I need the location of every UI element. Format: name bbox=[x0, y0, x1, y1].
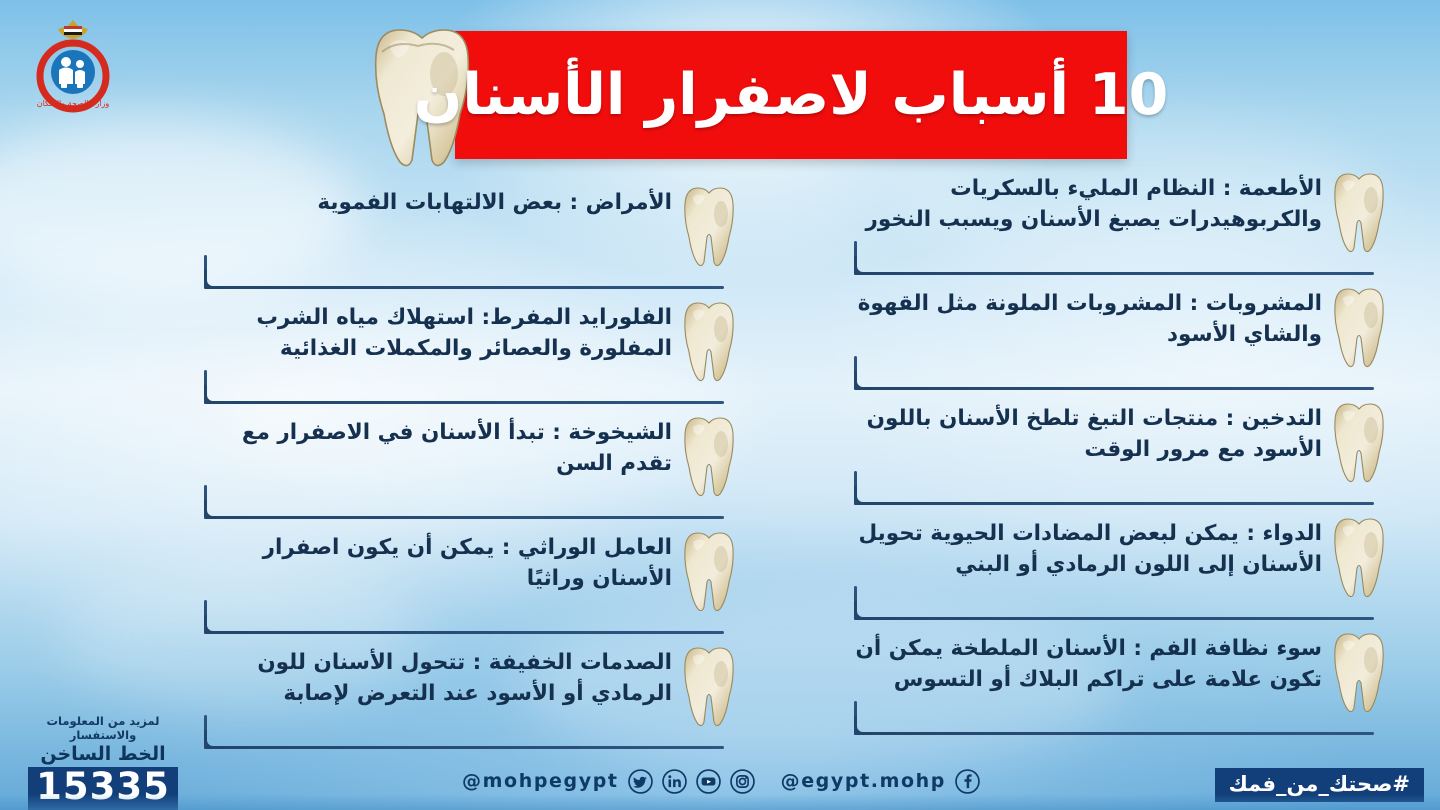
cause-label: الدواء bbox=[1262, 521, 1322, 546]
cause-separator: : bbox=[545, 420, 569, 445]
hotline-label: الخط الساخن bbox=[18, 743, 188, 765]
cause-separator: : bbox=[465, 650, 489, 675]
page-title: 10 أسباب لاصفرار الأسنان bbox=[455, 31, 1127, 159]
cause-text: الأمراض : بعض الالتهابات الفموية bbox=[188, 188, 672, 219]
cause-item: التدخين : منتجات التبغ تلطخ الأسنان بالل… bbox=[828, 398, 1388, 513]
cause-text: الشيخوخة : تبدأ الأسنان في الاصفرار مع ت… bbox=[188, 418, 672, 479]
cause-separator: : bbox=[1126, 636, 1150, 661]
infographic-canvas: وزارة الصحة والسكان 10 أسباب لاصفرار الأ… bbox=[0, 0, 1440, 810]
tooth-icon bbox=[680, 299, 738, 383]
cause-text: الدواء : يمكن لبعض المضادات الحيوية تحوي… bbox=[838, 519, 1322, 580]
cause-text: سوء نظافة الفم : الأسنان الملطخة يمكن أن… bbox=[838, 634, 1322, 695]
footer-gradient-bar bbox=[0, 794, 1440, 810]
linkedin-icon[interactable] bbox=[662, 769, 687, 794]
cause-text: المشروبات : المشروبات الملونة مثل القهوة… bbox=[838, 289, 1322, 350]
tooth-icon bbox=[680, 644, 738, 728]
tooth-icon bbox=[1330, 630, 1388, 714]
cause-item: الشيخوخة : تبدأ الأسنان في الاصفرار مع ت… bbox=[178, 412, 738, 527]
cause-item: الصدمات الخفيفة : تتحول الأسنان للون الر… bbox=[178, 642, 738, 757]
connector-line bbox=[836, 344, 1374, 390]
cause-text: الفلورايد المفرط: استهلاك مياه الشرب الم… bbox=[188, 303, 672, 364]
cause-label: الصدمات الخفيفة bbox=[489, 650, 672, 675]
connector-line bbox=[836, 459, 1374, 505]
cause-text: التدخين : منتجات التبغ تلطخ الأسنان بالل… bbox=[838, 404, 1322, 465]
causes-column-left: الأمراض : بعض الالتهابات الفموية الفلورا… bbox=[178, 182, 738, 757]
cause-separator: : bbox=[1239, 521, 1263, 546]
tooth-icon bbox=[1330, 285, 1388, 369]
cause-item: العامل الوراثي : يمكن أن يكون اصفرار الأ… bbox=[178, 527, 738, 642]
cause-description: بعض الالتهابات الفموية bbox=[317, 190, 562, 215]
cause-label: العامل الوراثي bbox=[518, 535, 672, 560]
cause-label: التدخين bbox=[1242, 406, 1322, 431]
cause-separator: : bbox=[562, 190, 586, 215]
cause-item: الفلورايد المفرط: استهلاك مياه الشرب الم… bbox=[178, 297, 738, 412]
cause-text: العامل الوراثي : يمكن أن يكون اصفرار الأ… bbox=[188, 533, 672, 594]
tooth-icon bbox=[1330, 515, 1388, 599]
tooth-icon bbox=[680, 529, 738, 613]
connector-line bbox=[186, 473, 724, 519]
cause-label: المشروبات bbox=[1206, 291, 1322, 316]
cause-label: الأطعمة bbox=[1239, 176, 1322, 201]
tooth-icon bbox=[680, 184, 738, 268]
cause-item: الأطعمة : النظام المليء بالسكريات والكرب… bbox=[828, 168, 1388, 283]
cause-item: المشروبات : المشروبات الملونة مثل القهوة… bbox=[828, 283, 1388, 398]
cause-separator: : bbox=[1215, 176, 1239, 201]
logo-caption: وزارة الصحة والسكان bbox=[37, 99, 110, 108]
cause-label: الفلورايد المفرط bbox=[490, 305, 672, 330]
cause-separator: : bbox=[494, 535, 518, 560]
cause-text: الصدمات الخفيفة : تتحول الأسنان للون الر… bbox=[188, 648, 672, 709]
connector-line bbox=[836, 574, 1374, 620]
cause-item: الأمراض : بعض الالتهابات الفموية bbox=[178, 182, 738, 297]
cause-item: الدواء : يمكن لبعض المضادات الحيوية تحوي… bbox=[828, 513, 1388, 628]
connector-line bbox=[836, 689, 1374, 735]
twitter-icon[interactable] bbox=[628, 769, 653, 794]
connector-line bbox=[186, 588, 724, 634]
cause-separator: : bbox=[474, 305, 490, 330]
instagram-icon[interactable] bbox=[730, 769, 755, 794]
connector-line bbox=[186, 243, 724, 289]
cause-separator: : bbox=[1218, 406, 1242, 431]
cause-label: الشيخوخة bbox=[568, 420, 672, 445]
hotline-subtitle: لمزيد من المعلومات والاستفسار bbox=[18, 714, 188, 742]
connector-line bbox=[186, 358, 724, 404]
cause-item: سوء نظافة الفم : الأسنان الملطخة يمكن أن… bbox=[828, 628, 1388, 743]
facebook-handle[interactable]: @egypt.mohp bbox=[781, 770, 946, 792]
youtube-icon[interactable] bbox=[696, 769, 721, 794]
tooth-icon bbox=[1330, 400, 1388, 484]
cause-label: سوء نظافة الفم bbox=[1149, 636, 1322, 661]
cause-label: الأمراض bbox=[586, 190, 672, 215]
cause-separator: : bbox=[1182, 291, 1206, 316]
facebook-icon[interactable] bbox=[955, 769, 980, 794]
egypt-ministry-of-health-logo: وزارة الصحة والسكان bbox=[18, 14, 128, 114]
social-bar: @egypt.mohp @mohpegypt bbox=[466, 764, 976, 798]
other-social-handle[interactable]: @mohpegypt bbox=[462, 770, 619, 792]
tooth-icon bbox=[680, 414, 738, 498]
cause-text: الأطعمة : النظام المليء بالسكريات والكرب… bbox=[838, 174, 1322, 235]
causes-column-right: الأطعمة : النظام المليء بالسكريات والكرب… bbox=[828, 168, 1388, 743]
connector-line bbox=[836, 229, 1374, 275]
tooth-icon bbox=[1330, 170, 1388, 254]
connector-line bbox=[186, 703, 724, 749]
